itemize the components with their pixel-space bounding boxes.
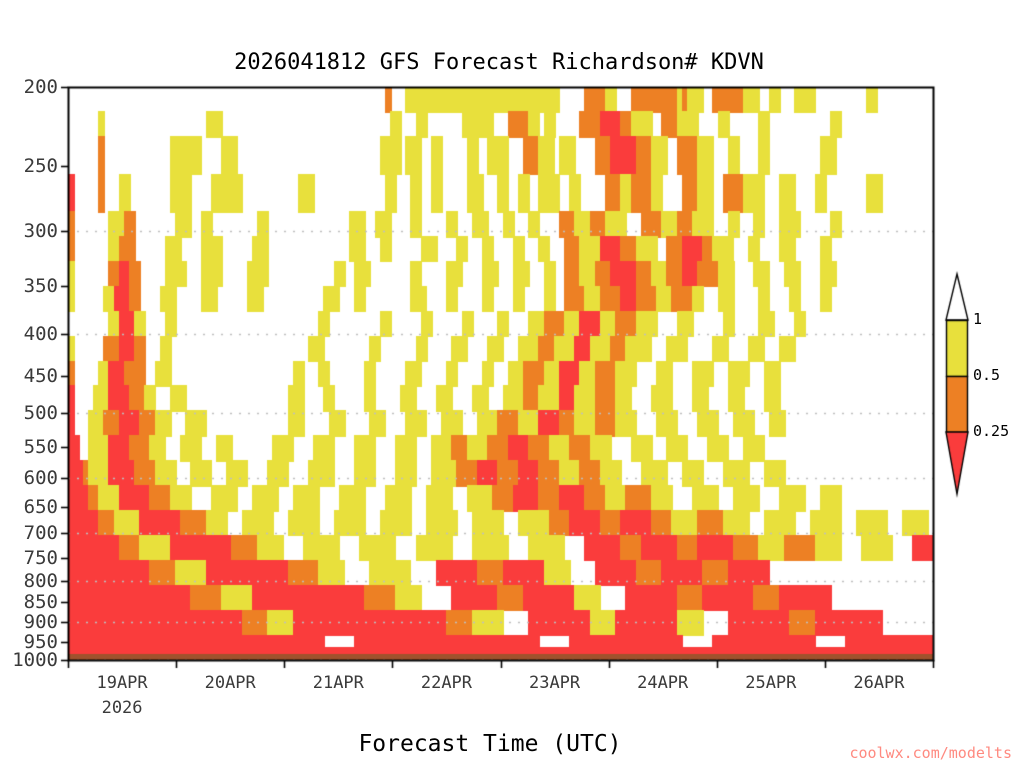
- chart-axes-and-legend: [0, 0, 1024, 768]
- x-tick-label-21APR: 21APR: [278, 673, 398, 693]
- y-tick-label-300: 300: [0, 220, 58, 242]
- y-tick-label-750: 750: [0, 547, 58, 569]
- y-tick-label-600: 600: [0, 467, 58, 489]
- y-tick-label-550: 550: [0, 436, 58, 458]
- x-tick-label-25APR: 25APR: [711, 673, 831, 693]
- y-tick-label-250: 250: [0, 155, 58, 177]
- x-tick-label-26APR: 26APR: [819, 673, 939, 693]
- y-tick-label-1000: 1000: [0, 649, 58, 671]
- y-tick-label-200: 200: [0, 76, 58, 98]
- y-tick-label-400: 400: [0, 323, 58, 345]
- y-tick-label-450: 450: [0, 365, 58, 387]
- x-tick-label-22APR: 22APR: [386, 673, 506, 693]
- y-tick-label-850: 850: [0, 591, 58, 613]
- site-watermark: coolwx.com/modelts: [849, 744, 1012, 762]
- colorbar-label-0.25: 0.25: [973, 422, 1009, 440]
- chart-page: 2026041812 GFS Forecast Richardson# KDVN…: [0, 0, 1024, 768]
- colorbar-label-0.5: 0.5: [973, 366, 1000, 384]
- x-tick-label-20APR: 20APR: [170, 673, 290, 693]
- x-tick-label-23APR: 23APR: [495, 673, 615, 693]
- y-tick-label-650: 650: [0, 496, 58, 518]
- y-tick-label-350: 350: [0, 275, 58, 297]
- y-tick-label-700: 700: [0, 522, 58, 544]
- x-tick-label-24APR: 24APR: [603, 673, 723, 693]
- x-tick-year-label: 2026: [62, 698, 182, 718]
- y-tick-label-500: 500: [0, 402, 58, 424]
- colorbar-label-1: 1: [973, 310, 982, 328]
- y-tick-label-800: 800: [0, 570, 58, 592]
- x-tick-label-19APR: 19APR: [62, 673, 182, 693]
